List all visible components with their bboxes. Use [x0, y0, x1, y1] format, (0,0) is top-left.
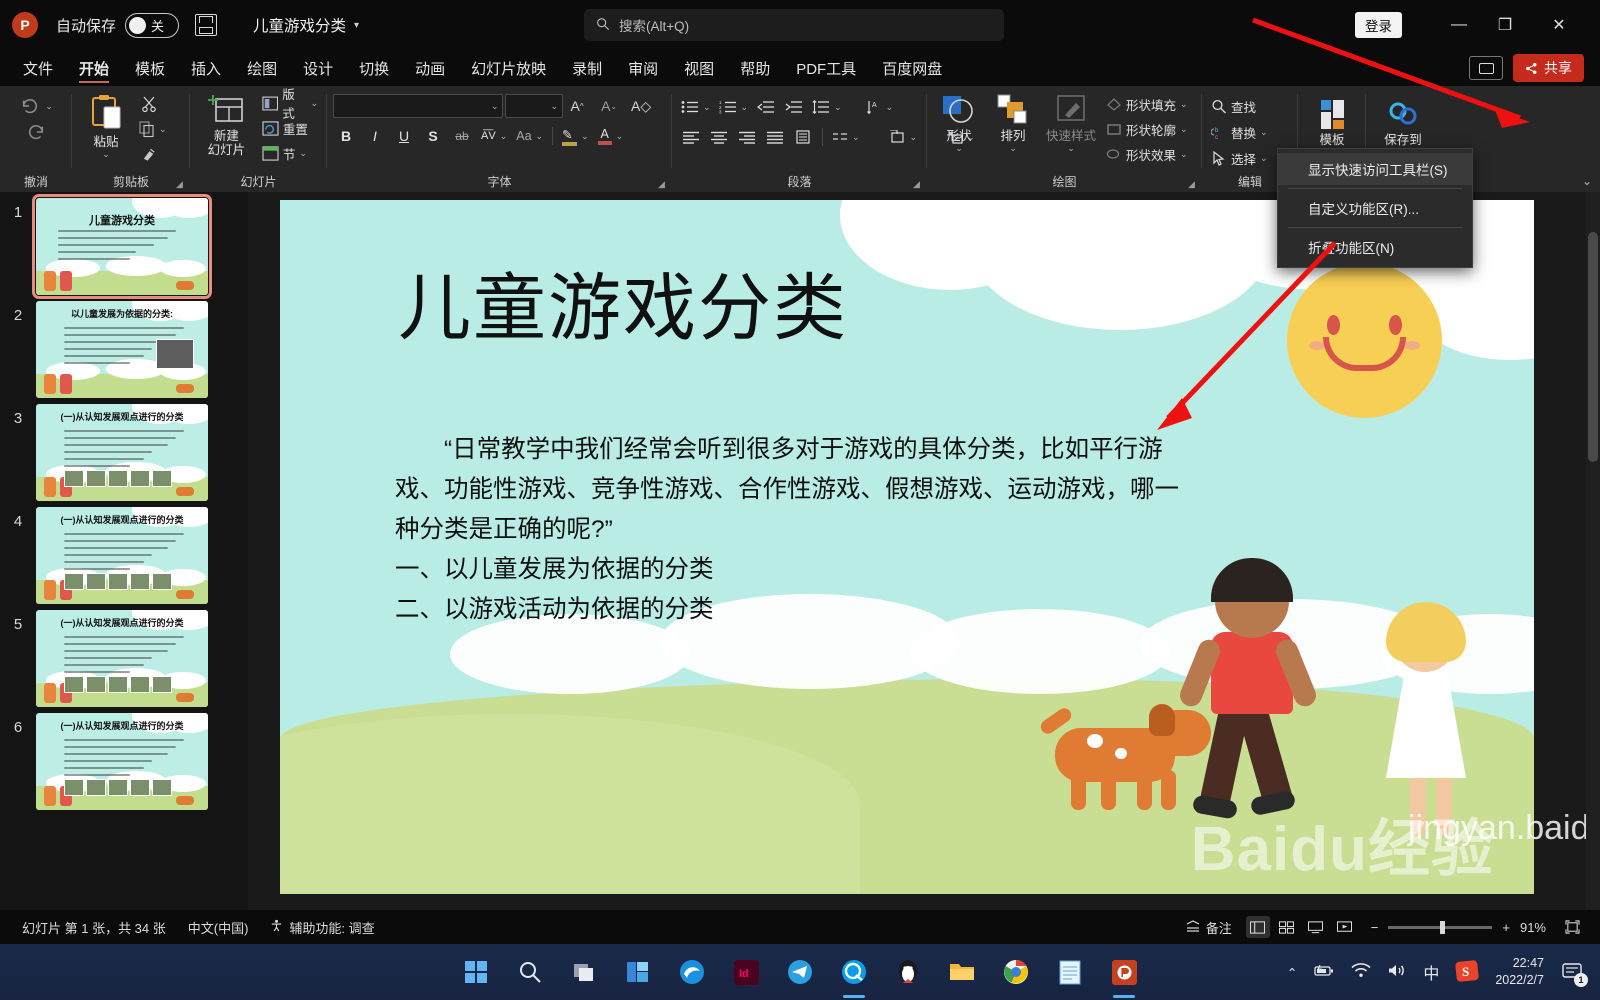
thumbnail-item-1[interactable]: 1儿童游戏分类: [0, 192, 248, 295]
task-view-icon[interactable]: [569, 957, 599, 987]
thumbnail-item-2[interactable]: 2以儿童发展为依据的分类:: [0, 295, 248, 398]
thumbnail-text-line: [64, 465, 130, 467]
search-icon: [596, 17, 610, 34]
slide-sorter-icon[interactable]: [1275, 916, 1299, 938]
thumbnail-text-line: [64, 561, 144, 563]
taskbar-icons: Id: [461, 957, 1139, 987]
cut-icon[interactable]: [136, 92, 162, 116]
status-bar: 幻灯片 第 1 张，共 34 张 中文(中国) 辅助功能: 调查 备注: [0, 910, 1600, 944]
kid-illustration: [60, 374, 72, 394]
status-bar-right: 备注 − + 91%: [1186, 916, 1600, 938]
ribbon-context-menu: 显示快速访问工具栏(S)自定义功能区(R)...折叠功能区(N): [1277, 148, 1473, 268]
shape-effects-label: 形状效果: [1126, 145, 1176, 164]
ribbon-group-paragraph: ⌄ 123 ⌄ ⌄: [672, 86, 927, 192]
svg-text:3: 3: [719, 110, 722, 115]
thumbnail-photo: [130, 470, 150, 487]
replace-label: 替换: [1231, 123, 1256, 142]
fit-to-window-icon[interactable]: [1560, 916, 1584, 938]
quick-styles-label: 快速样式: [1046, 129, 1096, 143]
ribbon-tab-12[interactable]: 帮助: [727, 50, 783, 86]
ribbon-tab-13[interactable]: PDF工具: [783, 50, 869, 86]
zoom-controls[interactable]: − + 91%: [1371, 920, 1546, 935]
login-button[interactable]: 登录: [1355, 12, 1402, 38]
thumbnail-number: 4: [0, 507, 36, 530]
language-indicator[interactable]: 中文(中国): [188, 918, 249, 937]
align-text-button[interactable]: ⌄: [887, 125, 921, 149]
slide-body-line-0: “日常教学中我们经常会听到很多对于游戏的具体分类，比如平行游戏、功能性游戏、竞争…: [395, 430, 1185, 550]
save-to-button[interactable]: 保存到: [1379, 96, 1427, 150]
kid-illustration: [44, 271, 56, 291]
thumbnail-text-line: [64, 430, 184, 432]
thumbnail-photo: [108, 676, 128, 693]
shapes-label: 形状: [946, 129, 971, 143]
section-dropdown-icon[interactable]: ⌄: [299, 148, 307, 159]
ribbon-tab-5[interactable]: 设计: [290, 50, 346, 86]
zoom-level[interactable]: 91%: [1520, 920, 1546, 935]
thumbnail-text-line: [64, 774, 130, 776]
search-placeholder: 搜索(Alt+Q): [619, 15, 689, 35]
kid-illustration: [44, 477, 56, 497]
thumbnail-text-line: [64, 671, 130, 673]
strikethrough-button[interactable]: ab: [449, 124, 475, 148]
autosave-toggle[interactable]: 关: [125, 13, 179, 38]
dog-illustration: [176, 590, 194, 599]
dog-illustration: [176, 281, 194, 290]
thumbnail-text-line: [64, 568, 130, 570]
ribbon-group-undo-label: 撤消: [6, 172, 66, 192]
thumbnail-text-line: [64, 540, 176, 542]
notes-icon: [1186, 920, 1200, 935]
dog-illustration: [176, 384, 194, 393]
ribbon-tab-11[interactable]: 视图: [671, 50, 727, 86]
reset-label: 重置: [283, 119, 308, 138]
select-label: 选择: [1231, 149, 1256, 168]
clock-time: 22:47: [1513, 955, 1544, 972]
thumbnail-text-line: [64, 341, 168, 343]
thumbnail-text-line: [64, 739, 184, 741]
thumbnail-number: 1: [0, 198, 36, 221]
ribbon-tab-6[interactable]: 切换: [346, 50, 402, 86]
svg-text:c: c: [1215, 135, 1218, 140]
thumbnail-number: 6: [0, 713, 36, 736]
quick-styles-dropdown-icon[interactable]: ⌄: [1067, 143, 1075, 154]
layout-dropdown-icon[interactable]: ⌄: [310, 98, 318, 109]
share-label: 共享: [1544, 58, 1572, 78]
windows-taskbar: Id ⌃: [0, 944, 1600, 1000]
document-title: 儿童游戏分类: [253, 14, 346, 36]
ribbon-tab-bar: 文件开始模板插入绘图设计切换动画幻灯片放映录制审阅视图帮助PDF工具百度网盘: [0, 50, 1600, 86]
ribbon-group-slides-label: 幻灯片: [196, 172, 321, 192]
thumbnail-text-line: [64, 657, 152, 659]
thumbnail-text-line: [58, 251, 136, 253]
ribbon-tab-10[interactable]: 审阅: [615, 50, 671, 86]
ribbon-group-font: ⌄ ⌄ A^ A⌄ A◇ B I U S ab A͞V⌄: [327, 86, 672, 192]
paste-button[interactable]: 粘贴 ⌄: [78, 90, 134, 163]
system-tray: ⌃ 中 S 22:47 2022/2/7 1: [1287, 944, 1600, 1000]
thumbnail-photo: [156, 339, 194, 369]
ribbon-tab-9[interactable]: 录制: [559, 50, 615, 86]
thumbnail-slide-preview[interactable]: (一)从认知发展观点进行的分类: [36, 610, 208, 707]
undo-button[interactable]: ⌄: [16, 94, 56, 118]
dog-illustration: [176, 693, 194, 702]
drawing-dialog-launcher[interactable]: ◢: [1188, 179, 1198, 189]
svg-text:b: b: [1215, 128, 1219, 134]
thumbnail-text-line: [64, 458, 144, 460]
thumbnail-text-line: [64, 533, 184, 535]
font-dialog-launcher[interactable]: ◢: [658, 179, 668, 189]
thumbnail-text-line: [58, 237, 168, 239]
chrome-icon[interactable]: [1001, 957, 1031, 987]
slide-body-line-1: 一、以儿童发展为依据的分类: [395, 550, 1185, 590]
thumbnail-photo: [64, 676, 84, 693]
thumbnail-text-line: [64, 451, 152, 453]
ribbon-tab-0[interactable]: 文件: [10, 50, 66, 86]
ribbon-tab-8[interactable]: 幻灯片放映: [458, 50, 559, 86]
edge-icon[interactable]: [677, 957, 707, 987]
file-explorer-icon[interactable]: [947, 957, 977, 987]
distribute-button[interactable]: [790, 125, 816, 149]
thumbnail-text-line: [64, 760, 152, 762]
autosave-label: 自动保存: [56, 15, 116, 36]
thumbnail-item-3[interactable]: 3(一)从认知发展观点进行的分类: [0, 398, 248, 501]
thumbnail-number: 2: [0, 301, 36, 324]
find-label: 查找: [1231, 97, 1256, 116]
thumbnail-text-line: [64, 348, 152, 350]
font-color-button[interactable]: A⌄: [595, 124, 627, 148]
reading-view-icon[interactable]: [1304, 916, 1328, 938]
thumbnail-title: (一)从认知发展观点进行的分类: [61, 410, 184, 423]
powerpoint-icon[interactable]: [1109, 957, 1139, 987]
wifi-icon[interactable]: [1351, 963, 1371, 981]
document-title-dropdown-icon[interactable]: ▾: [354, 20, 359, 31]
tab-bar-right-actions: 共享: [1469, 50, 1600, 86]
thumbnail-title: (一)从认知发展观点进行的分类: [61, 719, 184, 732]
thumbnail-text-line: [64, 643, 176, 645]
sun-face-icon: [1287, 263, 1442, 418]
thumbnail-text-line: [64, 444, 168, 446]
dog-illustration: [176, 487, 194, 496]
kid-illustration: [60, 271, 72, 291]
ribbon-group-undo: ⌄ 撤消: [0, 86, 72, 192]
thumbnail-item-4[interactable]: 4(一)从认知发展观点进行的分类: [0, 501, 248, 604]
arrange-dropdown-icon[interactable]: ⌄: [1009, 143, 1017, 154]
shape-outline-button[interactable]: 形状轮廓 ⌄: [1103, 117, 1191, 141]
thumbnail-photo: [86, 779, 106, 796]
minimize-button[interactable]: —: [1436, 0, 1482, 50]
thumbnail-photo: [152, 573, 172, 590]
girl-illustration: [1370, 610, 1500, 860]
zoom-slider[interactable]: [1388, 926, 1492, 929]
paste-label: 粘贴: [93, 135, 118, 149]
thumbnail-text-line: [58, 258, 130, 260]
thumbnail-photo: [108, 573, 128, 590]
thumbnail-text-line: [64, 664, 144, 666]
slideshow-icon[interactable]: [1333, 916, 1357, 938]
collapse-ribbon-icon[interactable]: ⌄: [1582, 174, 1592, 188]
normal-view-icon[interactable]: [1246, 916, 1270, 938]
line-spacing-button[interactable]: ⌄: [809, 95, 845, 119]
section-button[interactable]: 节 ⌄: [259, 141, 321, 165]
font-name-dropdown-icon[interactable]: ⌄: [491, 101, 499, 112]
thumbnail-text-line: [58, 230, 176, 232]
kid-illustration: [44, 580, 56, 600]
ribbon-group-clipboard-label: 剪贴板: [78, 172, 184, 192]
format-painter-icon[interactable]: [136, 142, 162, 166]
find-button[interactable]: 查找: [1208, 94, 1259, 118]
template-label: 模板: [1319, 133, 1344, 147]
increase-font-size-icon[interactable]: A^: [564, 94, 590, 118]
thumbnail-photo: [64, 470, 84, 487]
ribbon-group-clipboard: 粘贴 ⌄ ⌄ 剪贴板 ◢: [72, 86, 190, 192]
svg-text:A: A: [872, 102, 877, 109]
thumbnail-number: 5: [0, 610, 36, 633]
comment-icon[interactable]: [1469, 56, 1503, 80]
decrease-font-size-icon[interactable]: A⌄: [596, 94, 622, 118]
cloud-shape: [160, 260, 206, 277]
save-icon[interactable]: [195, 14, 217, 36]
thumbnail-text-line: [64, 746, 176, 748]
slide-counter[interactable]: 幻灯片 第 1 张，共 34 张: [22, 918, 166, 937]
search-icon[interactable]: [515, 957, 545, 987]
thumbnail-number: 3: [0, 404, 36, 427]
thumbnail-text-line: [64, 753, 168, 755]
thumbnail-text-line: [64, 362, 130, 364]
slide-scroll-thumb[interactable]: [1588, 232, 1598, 462]
search-input[interactable]: 搜索(Alt+Q): [584, 9, 1004, 41]
notes-button[interactable]: 备注: [1186, 918, 1232, 937]
close-button[interactable]: ✕: [1536, 0, 1582, 50]
section-label: 节: [283, 144, 296, 163]
ribbon-tab-7[interactable]: 动画: [402, 50, 458, 86]
thumbnail-item-5[interactable]: 5(一)从认知发展观点进行的分类: [0, 604, 248, 707]
thumbnail-photo: [152, 676, 172, 693]
slide-scrollbar[interactable]: [1586, 192, 1600, 910]
telegram-icon[interactable]: [785, 957, 815, 987]
thumbnail-photo: [86, 573, 106, 590]
arrange-label: 排列: [1000, 129, 1025, 143]
bullets-button[interactable]: ⌄: [678, 95, 714, 119]
reset-button[interactable]: 重置: [259, 116, 321, 140]
ribbon-tab-14[interactable]: 百度网盘: [869, 50, 955, 86]
notes-label: 备注: [1206, 918, 1232, 937]
thumbnail-text-line: [64, 650, 168, 652]
qq-icon[interactable]: [893, 957, 923, 987]
ribbon-group-paragraph-label: 段落: [678, 172, 921, 192]
clock[interactable]: 22:47 2022/2/7: [1495, 955, 1544, 989]
context-menu-item-0[interactable]: 显示快速访问工具栏(S): [1278, 153, 1472, 185]
text-highlight-color-button[interactable]: ✎⌄: [559, 124, 592, 148]
maximize-button[interactable]: ❐: [1482, 0, 1528, 50]
decrease-indent-button[interactable]: [753, 95, 779, 119]
share-button[interactable]: 共享: [1513, 54, 1584, 82]
sogou-input-icon[interactable]: S: [1455, 960, 1479, 985]
thumbnail-photo: [86, 676, 106, 693]
thumbnail-photo: [130, 779, 150, 796]
thumbnail-item-6[interactable]: 6(一)从认知发展观点进行的分类: [0, 707, 248, 810]
thumbnail-photo: [64, 573, 84, 590]
kid-illustration: [44, 786, 56, 806]
shapes-button[interactable]: 形状 ⌄: [933, 90, 985, 157]
svg-text:S: S: [1462, 964, 1469, 979]
shape-fill-button[interactable]: 形状填充 ⌄: [1103, 92, 1191, 116]
thumbnail-text-line: [64, 334, 176, 336]
slide-body-line-2: 二、以游戏活动为依据的分类: [395, 590, 1185, 630]
thumbnail-photo: [108, 779, 128, 796]
numbering-button[interactable]: 123 ⌄: [716, 95, 752, 119]
ribbon-tab-3[interactable]: 插入: [178, 50, 234, 86]
dog-illustration: [176, 796, 194, 805]
accessibility-icon: [270, 919, 283, 935]
ribbon-tab-1[interactable]: 开始: [66, 50, 122, 86]
shapes-dropdown-icon[interactable]: ⌄: [955, 143, 963, 154]
ribbon-group-drawing: 形状 ⌄ 排列 ⌄ 快速样式 ⌄ 形状填充 ⌄: [927, 86, 1202, 192]
paragraph-dialog-launcher[interactable]: ◢: [913, 179, 923, 189]
align-left-button[interactable]: [678, 125, 704, 149]
indesign-icon[interactable]: Id: [731, 957, 761, 987]
thumbnail-text-line: [64, 554, 152, 556]
thumbnail-text-line: [64, 327, 184, 329]
powerpoint-icon: P: [12, 12, 38, 38]
thumbnail-photo: [64, 779, 84, 796]
shape-outline-label: 形状轮廓: [1126, 120, 1176, 139]
zoom-in-button[interactable]: +: [1502, 920, 1510, 935]
thumbnail-text-line: [58, 244, 154, 246]
select-button[interactable]: 选择 ⌄: [1208, 146, 1271, 170]
slide-editing-area: 儿童游戏分类 “日常教学中我们经常会听到很多对于游戏的具体分类，比如平行游戏、功…: [248, 192, 1600, 910]
undo-dropdown-icon[interactable]: ⌄: [45, 101, 53, 112]
thumbnail-slide-preview[interactable]: (一)从认知发展观点进行的分类: [36, 713, 208, 810]
autosave-state: 关: [151, 16, 164, 35]
start-icon[interactable]: [461, 957, 491, 987]
context-menu-separator: [1288, 227, 1462, 228]
clock-date: 2022/2/7: [1495, 972, 1544, 989]
change-case-button[interactable]: Aa⌄: [513, 124, 546, 148]
thumbnail-photo: [86, 470, 106, 487]
qq-browser-icon[interactable]: [839, 957, 869, 987]
clear-formatting-icon[interactable]: A◇: [628, 94, 654, 118]
thumbnail-slide-preview[interactable]: 以儿童发展为依据的分类:: [36, 301, 208, 398]
thumbnail-photo: [130, 573, 150, 590]
thumbnail-title: (一)从认知发展观点进行的分类: [61, 616, 184, 629]
ime-indicator[interactable]: 中: [1423, 960, 1439, 984]
clipboard-dialog-launcher[interactable]: ◢: [176, 179, 186, 189]
font-name-input[interactable]: [333, 94, 503, 118]
quick-styles-button[interactable]: 快速样式 ⌄: [1041, 90, 1101, 157]
thumbnail-slide-preview[interactable]: (一)从认知发展观点进行的分类: [36, 507, 208, 604]
ribbon-tab-4[interactable]: 绘图: [234, 50, 290, 86]
accessibility-status[interactable]: 辅助功能: 调查: [270, 918, 374, 937]
new-slide-button[interactable]: 新建 幻灯片: [196, 90, 257, 160]
font-size-dropdown-icon[interactable]: ⌄: [551, 101, 559, 112]
battery-icon[interactable]: [1313, 964, 1335, 981]
notification-badge: 1: [1574, 973, 1588, 987]
accessibility-label: 辅助功能: 调查: [289, 918, 374, 937]
save-to-label: 保存到: [1384, 133, 1422, 147]
copy-icon[interactable]: ⌄: [136, 117, 170, 141]
replace-button[interactable]: bc 替换 ⌄: [1208, 120, 1271, 144]
slide-title[interactable]: 儿童游戏分类: [398, 272, 848, 345]
thumbnail-title: 儿童游戏分类: [89, 212, 155, 228]
shape-effects-button[interactable]: 形状效果 ⌄: [1103, 142, 1191, 166]
thumbnail-photo: [108, 470, 128, 487]
text-shadow-button[interactable]: S: [420, 124, 446, 148]
layout-button[interactable]: 版式 ⌄: [259, 91, 321, 115]
current-slide[interactable]: 儿童游戏分类 “日常教学中我们经常会听到很多对于游戏的具体分类，比如平行游戏、功…: [280, 200, 1534, 894]
align-center-button[interactable]: [706, 125, 732, 149]
context-menu-separator: [1288, 188, 1462, 189]
thumbnail-text-line: [64, 547, 168, 549]
thumbnail-photo: [152, 779, 172, 796]
thumbnail-title: (一)从认知发展观点进行的分类: [61, 513, 184, 526]
kid-illustration: [44, 683, 56, 703]
volume-icon[interactable]: [1387, 963, 1407, 981]
ribbon-group-font-label: 字体: [333, 172, 666, 192]
increase-indent-button[interactable]: [781, 95, 807, 119]
shape-fill-label: 形状填充: [1126, 95, 1176, 114]
character-spacing-button[interactable]: A͞V⌄: [478, 124, 510, 148]
align-right-button[interactable]: [734, 125, 760, 149]
thumbnail-photo: [152, 470, 172, 487]
slide-body-text[interactable]: “日常教学中我们经常会听到很多对于游戏的具体分类，比如平行游戏、功能性游戏、竞争…: [395, 430, 1185, 630]
widgets-icon[interactable]: [623, 957, 653, 987]
thumbnail-slide-preview[interactable]: (一)从认知发展观点进行的分类: [36, 404, 208, 501]
underline-button[interactable]: U: [391, 124, 417, 148]
powerpoint-window: P 自动保存 关 儿童游戏分类 ▾ 搜索(Alt+Q) 登录 — ❐ ✕ 文件开…: [0, 0, 1600, 1000]
bold-button[interactable]: B: [333, 124, 359, 148]
ribbon-group-slides: 新建 幻灯片 版式 ⌄ 重置 节: [190, 86, 327, 192]
thumbnail-text-line: [64, 767, 144, 769]
thumbnail-text-line: [64, 437, 176, 439]
justify-button[interactable]: [762, 125, 788, 149]
context-menu-item-1[interactable]: 自定义功能区(R)...: [1278, 192, 1472, 224]
context-menu-item-2[interactable]: 折叠功能区(N): [1278, 231, 1472, 263]
title-bar: P 自动保存 关 儿童游戏分类 ▾ 搜索(Alt+Q) 登录 — ❐ ✕: [0, 0, 1600, 50]
kid-illustration: [44, 374, 56, 394]
redo-button[interactable]: [22, 120, 50, 144]
ribbon-group-drawing-label: 绘图: [933, 172, 1196, 192]
text-direction-button[interactable]: A ⌄: [863, 95, 897, 119]
notification-center-icon[interactable]: 1: [1560, 959, 1586, 985]
boy-illustration: [1185, 564, 1335, 864]
toggle-knob: [129, 17, 146, 34]
notepad-icon[interactable]: [1055, 957, 1085, 987]
chevron-up-icon[interactable]: ⌃: [1287, 965, 1297, 980]
arrange-button[interactable]: 排列 ⌄: [987, 90, 1039, 157]
thumbnail-slide-preview[interactable]: 儿童游戏分类: [36, 198, 208, 295]
new-slide-label: 新建 幻灯片: [208, 129, 246, 157]
thumbnail-title: 以儿童发展为依据的分类:: [71, 307, 173, 320]
svg-text:Id: Id: [739, 968, 749, 980]
template-button[interactable]: 模板: [1308, 96, 1356, 150]
columns-button[interactable]: ⌄: [829, 125, 863, 149]
thumbnail-text-line: [64, 636, 184, 638]
copy-dropdown-icon[interactable]: ⌄: [159, 124, 167, 135]
paste-dropdown-icon[interactable]: ⌄: [102, 149, 110, 160]
thumbnail-text-line: [64, 355, 144, 357]
thumbnail-photo: [130, 676, 150, 693]
italic-button[interactable]: I: [362, 124, 388, 148]
ribbon-tab-2[interactable]: 模板: [122, 50, 178, 86]
zoom-out-button[interactable]: −: [1371, 920, 1379, 935]
slide-thumbnail-pane[interactable]: 1儿童游戏分类2以儿童发展为依据的分类:3(一)从认知发展观点进行的分类4(一)…: [0, 192, 248, 910]
